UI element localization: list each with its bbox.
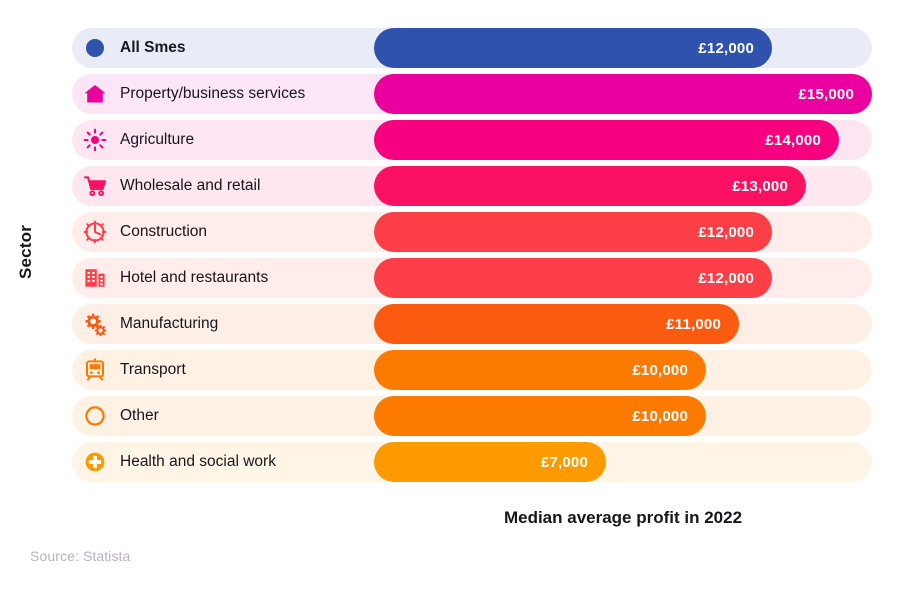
chart-bar-row: Construction£12,000 — [72, 212, 872, 252]
y-axis-title-label: Sector — [16, 225, 36, 279]
category-label-cell: Construction — [72, 212, 374, 252]
chart-bar-row: Property/business services£15,000 — [72, 74, 872, 114]
bar-value-label: £11,000 — [666, 316, 739, 333]
category-label-cell: Transport — [72, 350, 374, 390]
bar-value-label: £12,000 — [698, 224, 772, 241]
chart-bar: £10,000 — [374, 396, 706, 436]
bar-value-label: £7,000 — [541, 454, 606, 471]
bar-value-label: £12,000 — [698, 40, 772, 57]
chart-bar-row: Health and social work£7,000 — [72, 442, 872, 482]
category-label: Property/business services — [120, 85, 305, 103]
chart-bar: £12,000 — [374, 28, 772, 68]
chart-bar: £15,000 — [374, 74, 872, 114]
chart-bar: £12,000 — [374, 212, 772, 252]
chart-bar-row: Manufacturing£11,000 — [72, 304, 872, 344]
category-label: Manufacturing — [120, 315, 218, 333]
chart-bar: £12,000 — [374, 258, 772, 298]
category-label-cell: Manufacturing — [72, 304, 374, 344]
category-label: All Smes — [120, 39, 185, 57]
chart-bar-row: Other£10,000 — [72, 396, 872, 436]
bar-value-label: £13,000 — [732, 178, 806, 195]
chart-bar: £10,000 — [374, 350, 706, 390]
category-label: Transport — [120, 361, 186, 379]
sun-icon — [82, 127, 108, 153]
category-label: Hotel and restaurants — [120, 269, 268, 287]
category-label-cell: Agriculture — [72, 120, 374, 160]
category-label-cell: Health and social work — [72, 442, 374, 482]
circle-outline-icon — [82, 403, 108, 429]
category-label: Health and social work — [120, 453, 276, 471]
chart-bar-row: Transport£10,000 — [72, 350, 872, 390]
bar-value-label: £14,000 — [765, 132, 839, 149]
gear-wheel-icon — [82, 219, 108, 245]
chart-bar: £13,000 — [374, 166, 806, 206]
chart-bar-row: Wholesale and retail£13,000 — [72, 166, 872, 206]
chart-bar: £7,000 — [374, 442, 606, 482]
category-label: Agriculture — [120, 131, 194, 149]
category-label-cell: Property/business services — [72, 74, 374, 114]
chart-bar: £11,000 — [374, 304, 739, 344]
source-attribution: Source: Statista — [30, 548, 130, 564]
bar-value-label: £10,000 — [632, 408, 706, 425]
category-label-cell: All Smes — [72, 28, 374, 68]
chart-bar-row: Hotel and restaurants£12,000 — [72, 258, 872, 298]
circle-filled-icon — [82, 35, 108, 61]
chart-bar-row: Agriculture£14,000 — [72, 120, 872, 160]
bar-value-label: £15,000 — [798, 86, 872, 103]
chart-bar: £14,000 — [374, 120, 839, 160]
train-icon — [82, 357, 108, 383]
category-label-cell: Hotel and restaurants — [72, 258, 374, 298]
chart-bar-row: All Smes£12,000 — [72, 28, 872, 68]
house-icon — [82, 81, 108, 107]
category-label-cell: Other — [72, 396, 374, 436]
bar-value-label: £10,000 — [632, 362, 706, 379]
shopping-cart-icon — [82, 173, 108, 199]
category-label: Other — [120, 407, 159, 425]
category-label: Wholesale and retail — [120, 177, 260, 195]
category-label-cell: Wholesale and retail — [72, 166, 374, 206]
category-label: Construction — [120, 223, 207, 241]
medical-cross-icon — [82, 449, 108, 475]
chart-plot-area: All Smes£12,000Property/business service… — [72, 28, 872, 486]
bar-value-label: £12,000 — [698, 270, 772, 287]
chart-root: Sector All Smes£12,000Property/business … — [0, 0, 900, 600]
x-axis-title: Median average profit in 2022 — [374, 508, 872, 528]
building-icon — [82, 265, 108, 291]
gears-icon — [82, 311, 108, 337]
